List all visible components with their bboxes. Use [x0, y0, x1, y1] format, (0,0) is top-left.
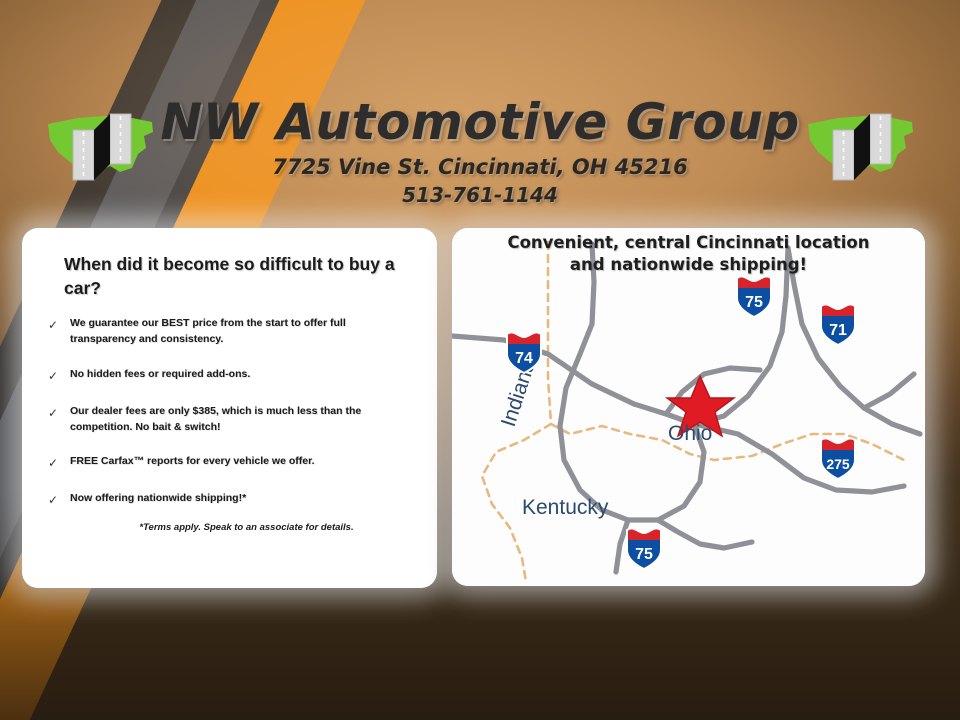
check-mark-icon: ✓ [44, 367, 70, 385]
list-item: ✓ FREE Carfax™ reports for every vehicle… [44, 454, 415, 472]
location-map-panel: Indiana Ohio Kentucky 74 75 [452, 228, 925, 586]
benefits-list: ✓ We guarantee our BEST price from the s… [44, 316, 415, 509]
map-caption-line1: Convenient, central Cincinnati location [452, 232, 925, 254]
list-item: ✓ We guarantee our BEST price from the s… [44, 316, 415, 348]
state-label: Kentucky [522, 496, 609, 519]
list-item-label: FREE Carfax™ reports for every vehicle w… [70, 454, 329, 470]
panel-heading: When did it become so difficult to buy a… [64, 252, 415, 300]
svg-text:74: 74 [515, 350, 533, 367]
map-caption-line2: and nationwide shipping! [452, 254, 925, 276]
value-proposition-panel: When did it become so difficult to buy a… [22, 228, 437, 588]
map-graphic: Indiana Ohio Kentucky 74 75 [452, 228, 925, 586]
check-mark-icon: ✓ [44, 491, 70, 509]
terms-footnote: *Terms apply. Speak to an associate for … [44, 522, 415, 533]
svg-text:75: 75 [745, 294, 763, 311]
map-caption: Convenient, central Cincinnati location … [452, 232, 925, 276]
list-item-label: No hidden fees or required add-ons. [70, 367, 264, 383]
list-item: ✓ No hidden fees or required add-ons. [44, 367, 415, 385]
check-mark-icon: ✓ [44, 404, 70, 422]
usa-map-road-n-logo-icon [40, 102, 160, 188]
svg-text:71: 71 [829, 322, 847, 339]
check-mark-icon: ✓ [44, 316, 70, 334]
state-label: Ohio [668, 422, 712, 445]
list-item: ✓ Our dealer fees are only $385, which i… [44, 404, 415, 436]
check-mark-icon: ✓ [44, 454, 70, 472]
list-item-label: Now offering nationwide shipping!* [70, 491, 260, 507]
page-header: NW Automotive Group 7725 Vine St. Cincin… [0, 96, 960, 226]
list-item-label: We guarantee our BEST price from the sta… [70, 316, 415, 348]
svg-text:275: 275 [826, 456, 850, 472]
usa-map-road-n-logo-icon [800, 102, 920, 188]
list-item-label: Our dealer fees are only $385, which is … [70, 404, 415, 436]
svg-text:75: 75 [635, 546, 653, 563]
list-item: ✓ Now offering nationwide shipping!* [44, 491, 415, 509]
